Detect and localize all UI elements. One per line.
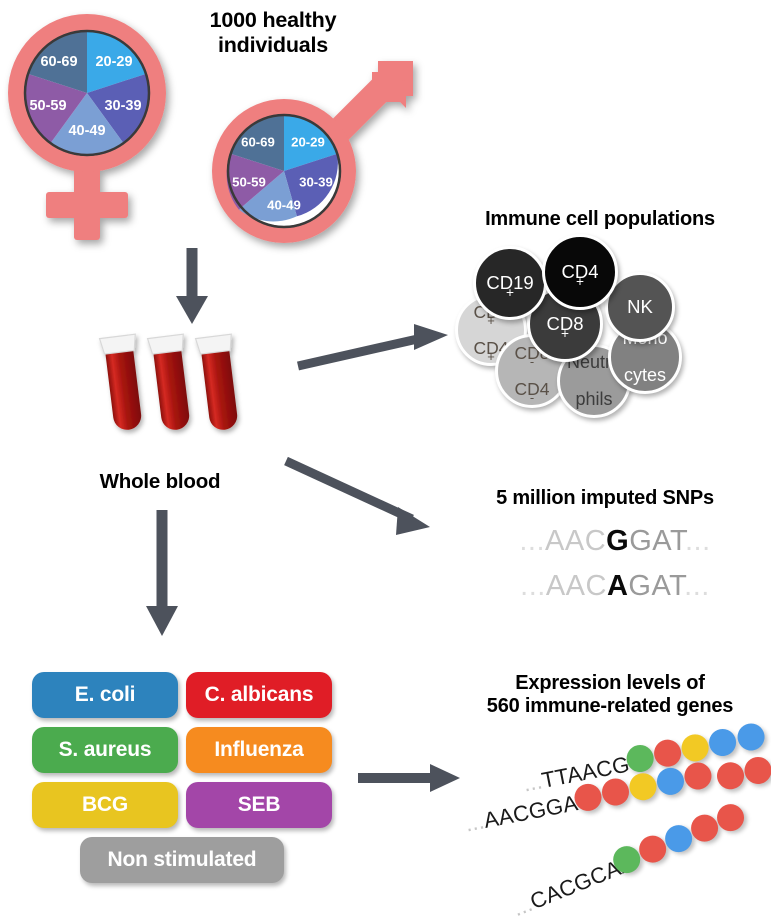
snp-prefix: ... <box>519 525 545 557</box>
pie-label-40-49: 40-49 <box>68 123 105 139</box>
arrow-blood-to-snps <box>284 455 454 545</box>
pie-label-20-29: 20-29 <box>95 54 132 70</box>
snp-pre: AAC <box>546 570 607 602</box>
study-design-diagram: 1000 healthy individuals <box>0 0 771 922</box>
stimulus-label: C. albicans <box>205 683 314 707</box>
pie-label-60-69: 60-69 <box>40 54 77 70</box>
stimulus-non-stimulated[interactable]: Non stimulated <box>80 837 284 883</box>
stimulus-label: SEB <box>238 793 281 817</box>
immune-cell-cluster: CD8+CD4+ CD8-CD4- Neutrophils Monocytes … <box>455 232 765 432</box>
stimulus-seb[interactable]: SEB <box>186 782 332 828</box>
expression-title-line1: Expression levels of <box>455 672 765 695</box>
rna-bead <box>707 727 739 759</box>
whole-blood-tubes <box>96 330 246 465</box>
rna-bead <box>652 737 684 769</box>
snp-row: ...AACAGAT... <box>470 570 760 603</box>
cell-line1: NK <box>627 297 653 316</box>
blood-tube <box>148 334 195 432</box>
immune-cell-cd19p: CD19+ <box>473 246 547 320</box>
rna-bead <box>679 732 711 764</box>
pie-label-50-59: 50-59 <box>29 98 66 114</box>
arrow-blood-to-stimuli <box>142 510 182 640</box>
snps-title: 5 million imputed SNPs <box>455 487 755 510</box>
stimulus-influenza[interactable]: Influenza <box>186 727 332 773</box>
expression-title-line2: 560 immune-related genes <box>455 695 765 718</box>
cell-line2: phils <box>567 390 621 409</box>
snp-post: GAT <box>629 525 685 557</box>
stimulus-label: S. aureus <box>59 738 152 762</box>
rna-bead <box>715 760 747 792</box>
stimulus-label: Influenza <box>214 738 303 762</box>
snp-pre: AAC <box>545 525 606 557</box>
immune-populations-title: Immune cell populations <box>440 208 760 231</box>
stimulus-c-albicans[interactable]: C. albicans <box>186 672 332 718</box>
snp-post: GAT <box>628 570 684 602</box>
arrow-blood-to-immune <box>296 316 456 378</box>
stimuli-panel: E. coli C. albicans S. aureus Influenza … <box>32 672 332 883</box>
rna-bead <box>742 755 771 787</box>
arrow-stimuli-to-expression <box>358 758 468 798</box>
pie-label-40-49: 40-49 <box>267 197 301 212</box>
rna-bead <box>682 760 714 792</box>
arrow-cohort-to-blood <box>172 248 212 328</box>
snp-variant: A <box>607 570 628 602</box>
stimulus-label: E. coli <box>75 683 135 707</box>
male-symbol: 20-29 30-39 40-49 50-59 60-69 <box>196 78 426 263</box>
snp-row: ...AACGGAT... <box>470 525 760 558</box>
stimulus-label: BCG <box>82 793 128 817</box>
blood-tube <box>100 334 147 432</box>
pie-label-30-39: 30-39 <box>104 98 141 114</box>
pie-label-20-29: 20-29 <box>291 134 325 149</box>
snp-suffix: ... <box>685 525 711 557</box>
rna-bead <box>735 721 767 753</box>
rna-bead <box>655 766 687 798</box>
cell-line2: cytes <box>622 366 667 385</box>
pie-label-30-39: 30-39 <box>299 174 333 189</box>
stimulus-e-coli[interactable]: E. coli <box>32 672 178 718</box>
female-symbol: 20-29 30-39 40-49 50-59 60-69 <box>4 10 219 245</box>
stimulus-s-aureus[interactable]: S. aureus <box>32 727 178 773</box>
pie-label-50-59: 50-59 <box>232 174 266 189</box>
snp-prefix: ... <box>520 570 546 602</box>
rna-strands: ...TTAACGG ...AACGGAT ...CACGCAA <box>455 730 771 920</box>
expression-title: Expression levels of 560 immune-related … <box>455 672 765 718</box>
stimulus-bcg[interactable]: BCG <box>32 782 178 828</box>
stimulus-label: Non stimulated <box>108 848 257 872</box>
pie-label-60-69: 60-69 <box>241 134 275 149</box>
whole-blood-label: Whole blood <box>60 470 260 494</box>
snp-variant: G <box>606 525 629 557</box>
snp-suffix: ... <box>684 570 710 602</box>
immune-cell-cd4p: CD4+ <box>542 234 618 310</box>
snp-sequences: ...AACGGAT... ...AACAGAT... <box>470 525 760 615</box>
blood-tube <box>196 334 243 432</box>
